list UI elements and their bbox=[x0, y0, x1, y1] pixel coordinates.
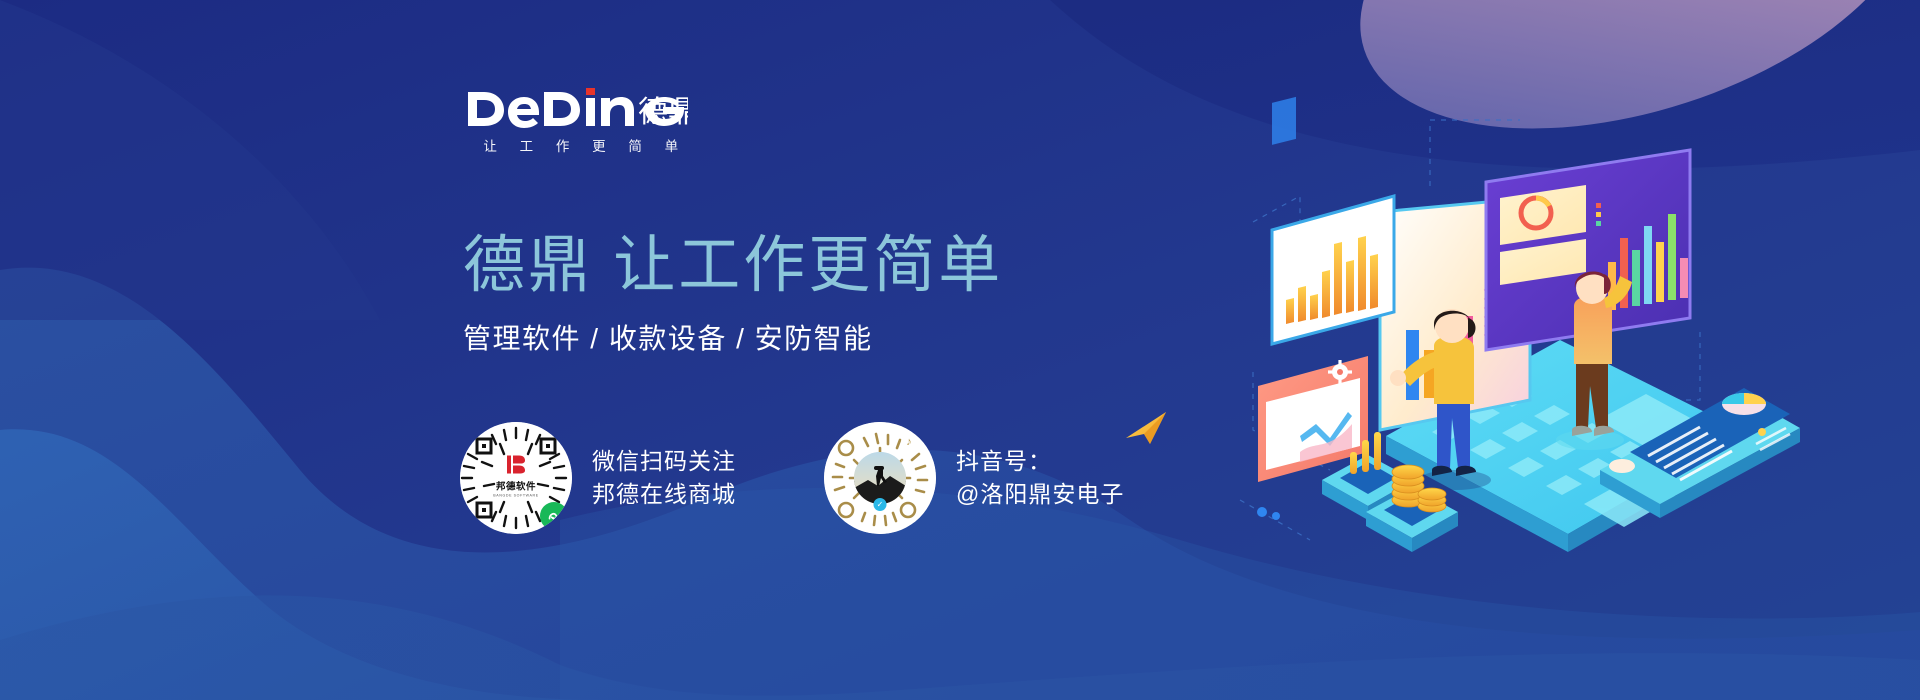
bangde-brand-sub: BANGDE SOFTWARE bbox=[490, 493, 542, 497]
bangde-b-logo-icon bbox=[504, 452, 528, 476]
qr-code-row: 邦德软件 BANGDE SOFTWARE 微信扫码关注 邦德在线商城 bbox=[460, 422, 1124, 534]
brand-logo[interactable]: 德鼎 让 工 作 更 简 单 bbox=[466, 88, 696, 155]
page-headline: 德鼎 让工作更简单 bbox=[463, 235, 1003, 297]
wechat-miniprogram-icon bbox=[540, 502, 568, 530]
bangde-brand-name: 邦德软件 bbox=[490, 478, 542, 492]
verified-check-icon: ✓ bbox=[874, 498, 887, 511]
wechat-caption-line2: 邦德在线商城 bbox=[592, 478, 736, 511]
hero-banner: 德鼎 让 工 作 更 简 单 德鼎 让工作更简单 管理软件 / 收款设备 / 安… bbox=[0, 0, 1920, 700]
douyin-caption-line1: 抖音号： bbox=[956, 445, 1124, 478]
paper-plane-icon bbox=[1120, 408, 1172, 452]
douyin-avatar-image bbox=[854, 452, 906, 504]
logo-wordmark-cn: 德鼎 bbox=[638, 95, 688, 128]
qr-item-wechat[interactable]: 邦德软件 BANGDE SOFTWARE 微信扫码关注 邦德在线商城 bbox=[460, 422, 736, 534]
logo-tagline: 让 工 作 更 简 单 bbox=[466, 135, 696, 155]
wechat-qr-code[interactable]: 邦德软件 BANGDE SOFTWARE bbox=[460, 422, 572, 534]
wechat-caption-line1: 微信扫码关注 bbox=[592, 445, 736, 478]
music-note-icon: ♪ bbox=[901, 434, 917, 450]
douyin-qr-code[interactable]: ♪ ✓ bbox=[824, 422, 936, 534]
logo-wordmark-icon: 德鼎 bbox=[466, 88, 688, 128]
wechat-qr-center-logo: 邦德软件 BANGDE SOFTWARE bbox=[490, 452, 542, 497]
logo-accent-dot-icon bbox=[586, 88, 595, 95]
wechat-qr-caption: 微信扫码关注 邦德在线商城 bbox=[592, 445, 736, 512]
page-subheadline: 管理软件 / 收款设备 / 安防智能 bbox=[463, 325, 873, 353]
douyin-qr-caption: 抖音号： @洛阳鼎安电子 bbox=[956, 445, 1124, 512]
qr-item-douyin[interactable]: ♪ ✓ 抖音号： @洛阳鼎安电子 bbox=[824, 422, 1124, 534]
douyin-caption-line2: @洛阳鼎安电子 bbox=[956, 478, 1124, 511]
